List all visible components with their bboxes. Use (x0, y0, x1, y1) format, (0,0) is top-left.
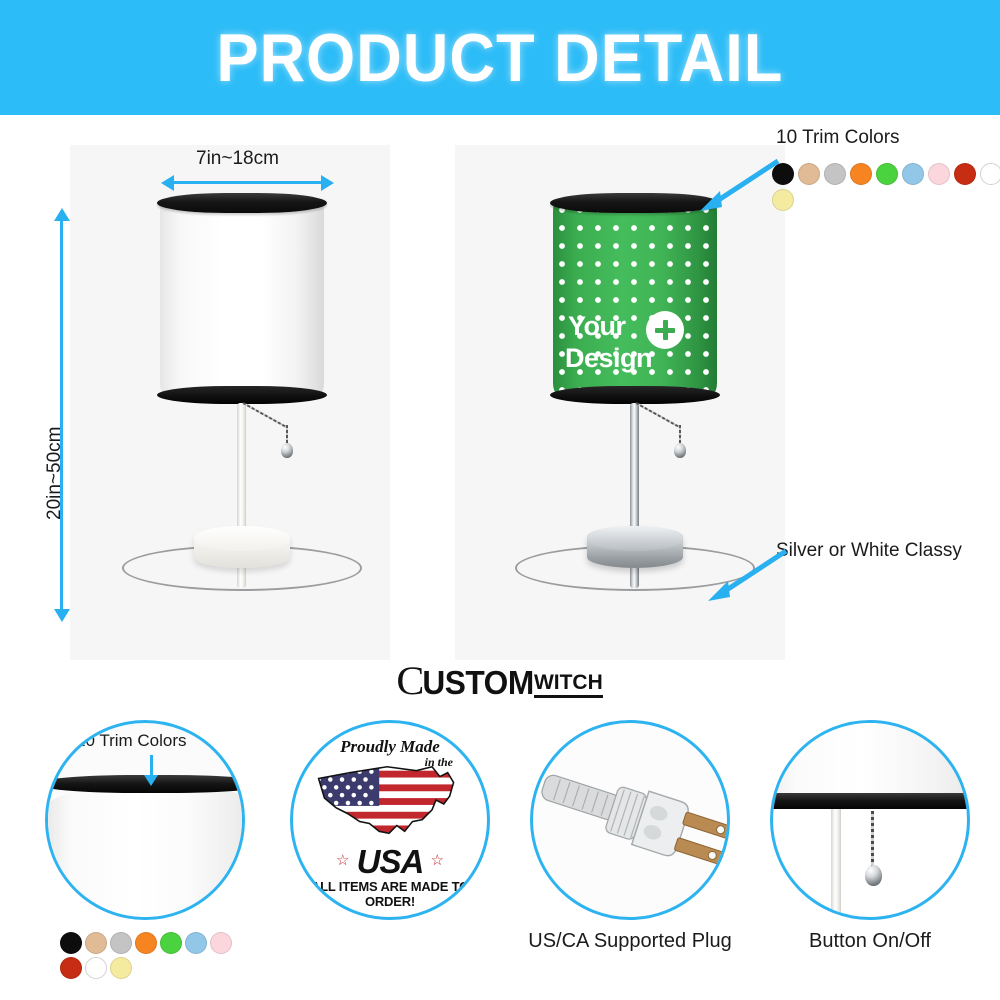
white-lamp-shade (160, 193, 324, 398)
features-section: 10 Trim Colors Proudly Made in the (0, 720, 1000, 1000)
width-arrow-head-left (161, 175, 174, 191)
width-arrow-head-right (321, 175, 334, 191)
feature-lamp-pole (831, 809, 841, 919)
feature-shade-illustration (45, 785, 245, 920)
trim-swatch-gray[interactable] (110, 932, 132, 954)
trim-swatch-orange[interactable] (850, 163, 872, 185)
trim-swatch-light-blue[interactable] (902, 163, 924, 185)
trim-swatch-black[interactable] (60, 932, 82, 954)
white-lamp-base (194, 526, 290, 568)
power-plug-icon (541, 763, 730, 893)
white-shade-body (160, 201, 324, 393)
page-title: PRODUCT DETAIL (217, 24, 784, 92)
feature-plug-circle (530, 720, 730, 920)
feature-button-onoff-caption: Button On/Off (760, 930, 980, 953)
white-lamp-pull-chain (286, 425, 288, 445)
trim-swatch-gray[interactable] (824, 163, 846, 185)
height-dimension-line (60, 220, 63, 610)
feature-pull-chain (871, 811, 874, 869)
trim-swatch-orange[interactable] (135, 932, 157, 954)
feature-trim-colors-swatch-row (60, 932, 240, 979)
silver-lamp-base-top (587, 526, 683, 551)
trim-colors-swatch-row (772, 163, 1000, 211)
logo-custom-text: USTOM (422, 666, 533, 699)
feature-pull-chain-ball (865, 865, 882, 886)
trim-swatch-tan[interactable] (798, 163, 820, 185)
trim-swatch-yellow[interactable] (110, 957, 132, 979)
logo-witch-text: WITCH (534, 672, 603, 698)
header-banner: PRODUCT DETAIL (0, 0, 1000, 115)
feature-button-onoff-circle (770, 720, 970, 920)
feature-trim-colors-label: 10 Trim Colors (76, 731, 187, 751)
trim-swatch-pink[interactable] (210, 932, 232, 954)
trim-swatch-light-blue[interactable] (185, 932, 207, 954)
logo-c-mark: C (397, 663, 421, 699)
trim-swatch-green[interactable] (876, 163, 898, 185)
usa-map-flag-icon (309, 757, 469, 847)
width-dimension-label: 7in~18cm (196, 148, 279, 170)
usa-star-right-icon: ☆ (431, 851, 444, 869)
width-dimension-line (173, 181, 321, 184)
green-shade-body (553, 201, 717, 393)
brand-logo: C USTOM WITCH (0, 663, 1000, 699)
feature-lamp-shade-illustration (770, 720, 970, 795)
green-lamp-pull-chain (679, 425, 681, 445)
white-shade-bottom-trim (157, 386, 327, 404)
white-shade-top-trim (157, 193, 327, 213)
silver-lamp-base (587, 526, 683, 568)
usa-badge-top-text: Proudly Made (293, 737, 487, 757)
product-detail-infographic: PRODUCT DETAIL 7in~18cm 20in~ (0, 0, 1000, 1000)
base-finish-callout-label: Silver or White Classy (776, 540, 962, 562)
feature-trim-colors-circle: 10 Trim Colors (45, 720, 245, 920)
base-finish-arrow (700, 545, 790, 605)
usa-badge-subtext: ALL ITEMS ARE MADE TO ORDER! (293, 879, 487, 909)
trim-colors-callout-label: 10 Trim Colors (776, 127, 900, 149)
height-arrow-head-up (54, 208, 70, 221)
usa-badge-word: USA (293, 843, 487, 881)
trim-swatch-tan[interactable] (85, 932, 107, 954)
height-arrow-head-down (54, 609, 70, 622)
green-lamp-chain-ball (674, 443, 686, 458)
green-shade-bottom-trim (550, 386, 720, 404)
trim-swatch-pink[interactable] (928, 163, 950, 185)
green-lamp-shade: Your Design (553, 193, 717, 398)
feature-made-in-usa-circle: Proudly Made in the (290, 720, 490, 920)
trim-swatch-white[interactable] (980, 163, 1000, 185)
trim-swatch-white[interactable] (85, 957, 107, 979)
trim-swatch-red[interactable] (954, 163, 976, 185)
trim-swatch-green[interactable] (160, 932, 182, 954)
trim-colors-arrow (692, 155, 782, 215)
feature-trim-arrow-line (150, 755, 153, 777)
trim-swatch-red[interactable] (60, 957, 82, 979)
feature-lamp-trim (770, 793, 970, 809)
white-lamp-chain-ball (281, 443, 293, 458)
feature-plug-caption: US/CA Supported Plug (500, 930, 760, 953)
showcase-section: 7in~18cm 20in~50cm Your Design (0, 115, 1000, 660)
feature-trim-arrow-head (144, 775, 158, 786)
white-lamp-base-top (194, 526, 290, 551)
